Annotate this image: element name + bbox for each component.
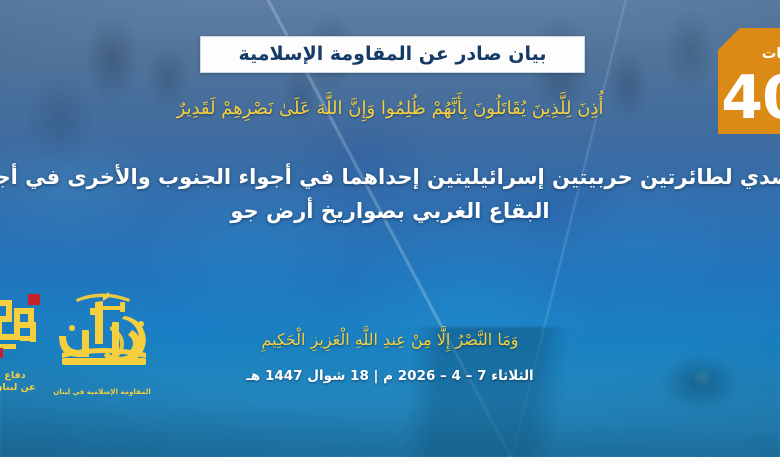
badge-caption-line1: عدد	[718, 34, 780, 47]
campaign-logo: دفاع عن لبنان	[0, 290, 46, 394]
headline-plaque: بيان صادر عن المقاومة الإسلامية	[200, 36, 585, 73]
poster-content: بيان صادر عن المقاومة الإسلامية أُذِنَ ل…	[0, 0, 780, 457]
kufic-calligraphy-icon	[0, 290, 46, 368]
campaign-logo-caption: دفاع عن لبنان	[0, 370, 46, 394]
statement-count-badge: عدد بيانات 40	[718, 28, 780, 134]
campaign-caption-line2: عن لبنان	[0, 382, 36, 393]
hezbollah-logo-subcaption: المقاومة الإسلامية في لبنان	[46, 388, 158, 396]
hezbollah-logo: المقاومة الإسلامية في لبنان	[46, 286, 158, 396]
page-title: بيان صادر عن المقاومة الإسلامية	[238, 45, 546, 64]
quran-verse-top: أُذِنَ لِلَّذِينَ يُقَاتَلُونَ بِأَنَّهُ…	[0, 98, 780, 119]
statement-poster: بيان صادر عن المقاومة الإسلامية أُذِنَ ل…	[0, 0, 780, 457]
logo-cluster: دفاع عن لبنان	[0, 286, 174, 396]
statement-body: التصدي لطائرتين حربيتين إسرائيليتين إحدا…	[0, 160, 780, 228]
campaign-caption-line1: دفاع	[4, 370, 25, 381]
badge-caption-line2: بيانات	[718, 47, 780, 62]
badge-count-number: 40	[718, 68, 780, 128]
badge-caption: عدد بيانات	[718, 34, 780, 62]
hezbollah-emblem-icon	[46, 286, 158, 382]
